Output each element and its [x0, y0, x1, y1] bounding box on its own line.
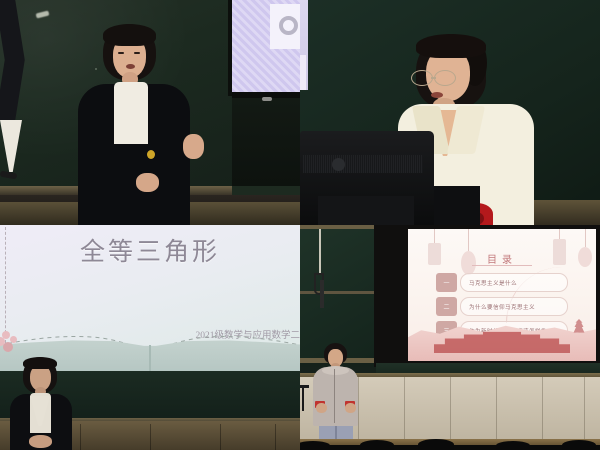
collage-panel-top-left	[0, 0, 300, 225]
book-spine	[149, 345, 151, 371]
side-desk	[524, 200, 600, 225]
desk-seam	[220, 424, 221, 450]
microphone-stand	[300, 385, 309, 411]
audience-head	[496, 441, 530, 450]
wall-knob	[262, 97, 272, 101]
presenter-eye	[134, 52, 140, 54]
wall-panel-seam	[450, 377, 451, 445]
presenter-hand-right	[345, 403, 356, 413]
wall-panel-seam	[358, 377, 359, 445]
audience-head	[300, 441, 330, 450]
monitor-speaker-grill	[303, 155, 423, 173]
wall-panel-seam	[584, 377, 585, 445]
slide-title: 目录	[408, 251, 596, 266]
monitor-base	[318, 196, 414, 225]
glasses-lens-right	[434, 70, 456, 86]
desk-seam	[150, 424, 151, 450]
contents-item-label: 马克思主义是什么	[460, 273, 568, 292]
presenter-hand-raised	[183, 134, 204, 159]
audience-head	[418, 439, 454, 450]
collage-panel-bottom-left: 全等三角形 2021级数学与应用数学二	[0, 225, 300, 450]
presenter-fringe	[103, 24, 156, 46]
wall-hook-strap	[320, 280, 324, 308]
lantern-string	[559, 229, 560, 239]
speaker-fringe	[416, 34, 486, 58]
wall-panel-seam	[496, 377, 497, 445]
audience-head	[360, 440, 394, 450]
collage-panel-bottom-right: 目录 一 马克思主义是什么 二 为什么要信仰马克思主义 三 作为新时代的我们应该…	[300, 225, 600, 450]
chalk-mark	[95, 68, 97, 70]
desk-seam	[275, 424, 276, 450]
presenter-hand-left	[316, 403, 327, 413]
presenter-hand-lower	[136, 173, 159, 192]
chalkboard-frame-top	[300, 225, 376, 229]
presenter-clasped-hands	[29, 435, 52, 448]
projector-frame: 目录 一 马克思主义是什么 二 为什么要信仰马克思主义 三 作为新时代的我们应该…	[374, 225, 600, 367]
slide-title: 全等三角形	[0, 232, 300, 268]
hoodie-zipper	[334, 369, 335, 423]
microphone-stand-pole	[302, 385, 304, 411]
lapel-pin	[147, 150, 155, 159]
wall-panel-seam	[542, 377, 543, 445]
collage-panel-top-right	[300, 0, 600, 225]
presenter-fringe	[23, 357, 57, 369]
photo-collage: 全等三角形 2021级数学与应用数学二	[0, 0, 600, 450]
flower-decoration	[0, 331, 18, 355]
projected-slide: 全等三角形 2021级数学与应用数学二	[0, 225, 300, 371]
glasses-bridge	[431, 77, 436, 79]
presenter-hoodie	[313, 367, 358, 426]
projected-slide: 目录 一 马克思主义是什么 二 为什么要信仰马克思主义 三 作为新时代的我们应该…	[408, 229, 596, 361]
audience-head	[562, 440, 596, 450]
projector-screen	[232, 0, 300, 92]
contents-item-number: 二	[436, 297, 457, 316]
circle-icon	[279, 16, 298, 35]
contents-item-label: 为什么要信仰马克思主义	[460, 297, 568, 316]
desk-seam	[80, 424, 81, 450]
chalkboard-frame-middle	[300, 291, 376, 294]
slide-title-rule	[472, 265, 532, 266]
monitor-knob	[332, 158, 345, 171]
lantern-string	[585, 229, 586, 247]
lantern-string	[468, 229, 469, 251]
presenter-shirt	[114, 82, 148, 144]
presenter-eye	[118, 52, 124, 54]
contents-item-number: 一	[436, 273, 457, 292]
hanging-strap	[319, 229, 321, 275]
wall-panel-seam	[404, 377, 405, 445]
lantern-string	[434, 229, 435, 243]
glasses-lens-left	[411, 70, 433, 86]
hoodie-collar	[322, 366, 349, 375]
wall-dark-right	[232, 98, 300, 186]
chalkboard	[300, 228, 374, 360]
presenter-mouth	[126, 64, 135, 69]
projector-screen-highlight	[300, 55, 306, 90]
